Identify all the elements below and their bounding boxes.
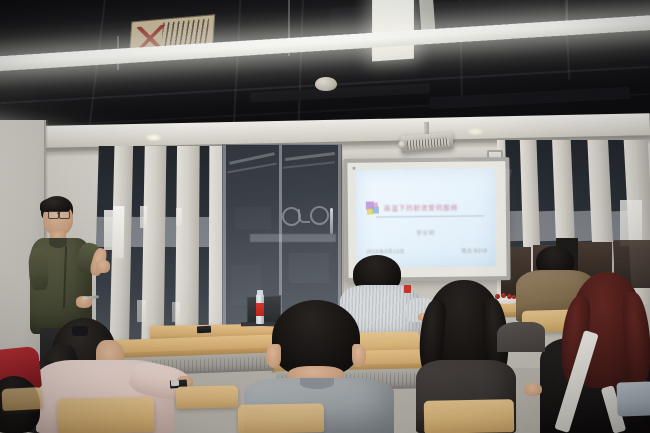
glasses-bridge — [57, 213, 60, 214]
slide-presenter: 李长明 — [356, 228, 495, 237]
door-handle[interactable] — [330, 208, 333, 234]
presenter-left-arm — [28, 248, 49, 291]
classroom-photo: 高温下的射流管伺服阀 李长明 2016年6月13日 地点:B318 — [0, 0, 650, 433]
phone-case — [171, 380, 179, 387]
presenter-hair-top — [40, 198, 70, 212]
slide-meta: 2016年6月13日 地点:B318 — [366, 247, 487, 255]
chair-back-blue[interactable] — [616, 381, 650, 416]
glasses-icon — [59, 211, 70, 219]
mobile-phone — [197, 326, 211, 334]
downlight-icon — [146, 134, 161, 141]
ceiling — [0, 0, 650, 132]
paper-sheet — [104, 210, 113, 250]
attendee-grey-shirt-head — [272, 300, 360, 376]
fruit — [501, 293, 506, 298]
paper-sheet — [172, 302, 180, 322]
slide-location: 地点:B318 — [461, 247, 487, 254]
chair-back-foreground[interactable] — [176, 385, 239, 409]
slide-logo-icon — [366, 201, 381, 216]
door-signage — [250, 234, 336, 242]
attendee-grey-shirt-ear — [352, 344, 366, 367]
projected-slide: 高温下的射流管伺服阀 李长明 2016年6月13日 地点:B318 — [355, 168, 495, 267]
downlight-icon — [468, 128, 483, 135]
bottle-label — [256, 303, 264, 316]
attendee-auburn-hand — [524, 383, 542, 396]
attendee-shoulder — [497, 322, 545, 352]
paper-sheet — [140, 206, 147, 228]
bottle-cap — [257, 290, 263, 295]
paper-sheet — [137, 300, 146, 322]
attendee-grey-shirt-ear — [266, 344, 281, 368]
paper-sheet — [176, 208, 182, 226]
chair-back-foreground[interactable] — [424, 399, 515, 433]
attendee-grey-shirt-collar — [300, 378, 334, 389]
chair-back-foreground[interactable] — [238, 403, 324, 433]
slide-divider — [376, 215, 484, 217]
paper-sheet — [113, 206, 125, 258]
hair-clip — [72, 326, 88, 336]
slide-title: 高温下的射流管伺服阀 — [384, 201, 488, 212]
chair-back-foreground[interactable] — [58, 397, 155, 433]
smoke-detector-icon — [315, 77, 337, 91]
ceiling-light-panel — [419, 0, 436, 32]
door-logo-icon — [282, 205, 330, 227]
presenter-hand-raised — [96, 260, 110, 273]
chair-back[interactable] — [1, 387, 42, 411]
red-object — [404, 285, 411, 293]
